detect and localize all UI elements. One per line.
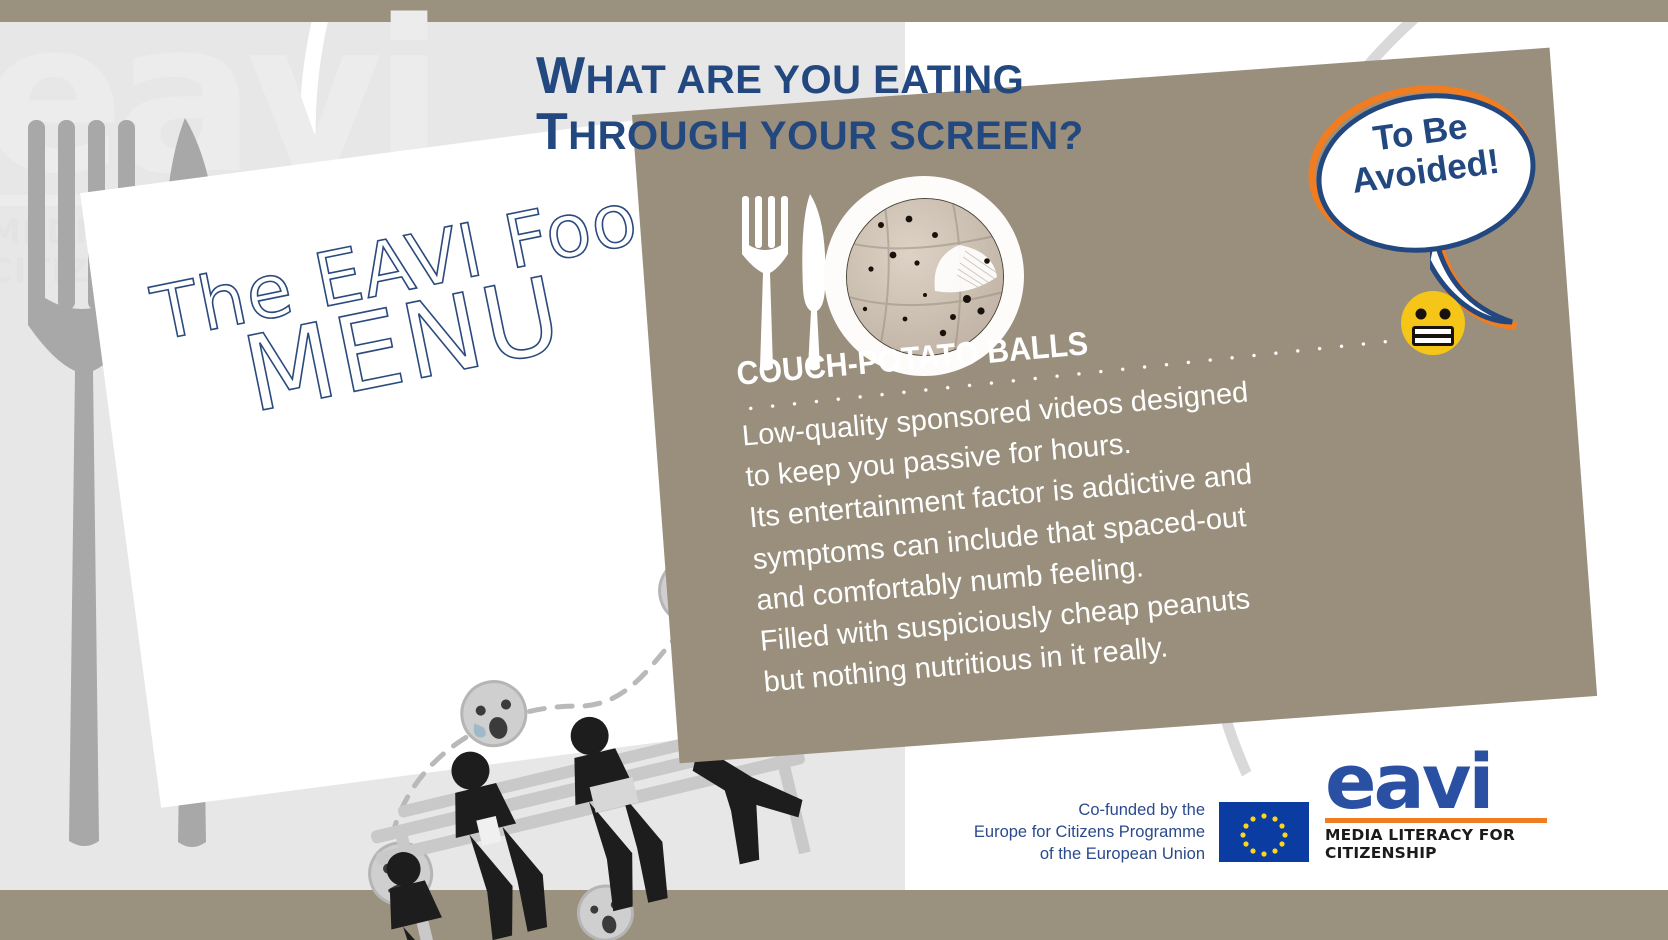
grimacing-face-icon (1398, 288, 1468, 358)
bottom-khaki-band (0, 890, 1668, 940)
eavi-logo-tagline: MEDIA LITERACY FOR CITIZENSHIP (1325, 826, 1550, 862)
to-be-avoided-badge: To Be Avoided! (1300, 80, 1550, 310)
eu-funding-text: Co-funded by the Europe for Citizens Pro… (930, 800, 1205, 865)
eu-funding-line: of the European Union (930, 844, 1205, 866)
infographic-canvas: eavi MEDIA LITERACY FOR CITIZENSHIP The … (0, 0, 1668, 940)
eu-funding-line: Europe for Citizens Programme (930, 822, 1205, 844)
plate-food-photo (846, 198, 1004, 356)
eavi-logo: eavi MEDIA LITERACY FOR CITIZENSHIP (1325, 752, 1550, 862)
page-title: WHAT ARE YOU EATING THROUGH YOUR SCREEN? (536, 50, 1084, 158)
headline-line1: HAT ARE YOU EATING (586, 58, 1025, 102)
headline-line2-cap: T (536, 103, 568, 161)
emoji-grey-crying (455, 675, 532, 752)
menu-card-title: The EAVI Food MENU (146, 170, 692, 452)
eu-funding-line: Co-funded by the (930, 800, 1205, 822)
dish-text-block: COUCH-POTATO BALLS Low-quality sponsored… (735, 294, 1463, 704)
panel-cutlery-icon (738, 192, 834, 372)
eu-flag-icon (1219, 802, 1309, 862)
dish-description: Low-quality sponsored videos designed to… (740, 356, 1462, 704)
headline-line2: HROUGH YOUR SCREEN? (568, 114, 1083, 158)
headline-line1-cap: W (536, 47, 586, 105)
eavi-wordmark: eavi (1325, 752, 1550, 813)
